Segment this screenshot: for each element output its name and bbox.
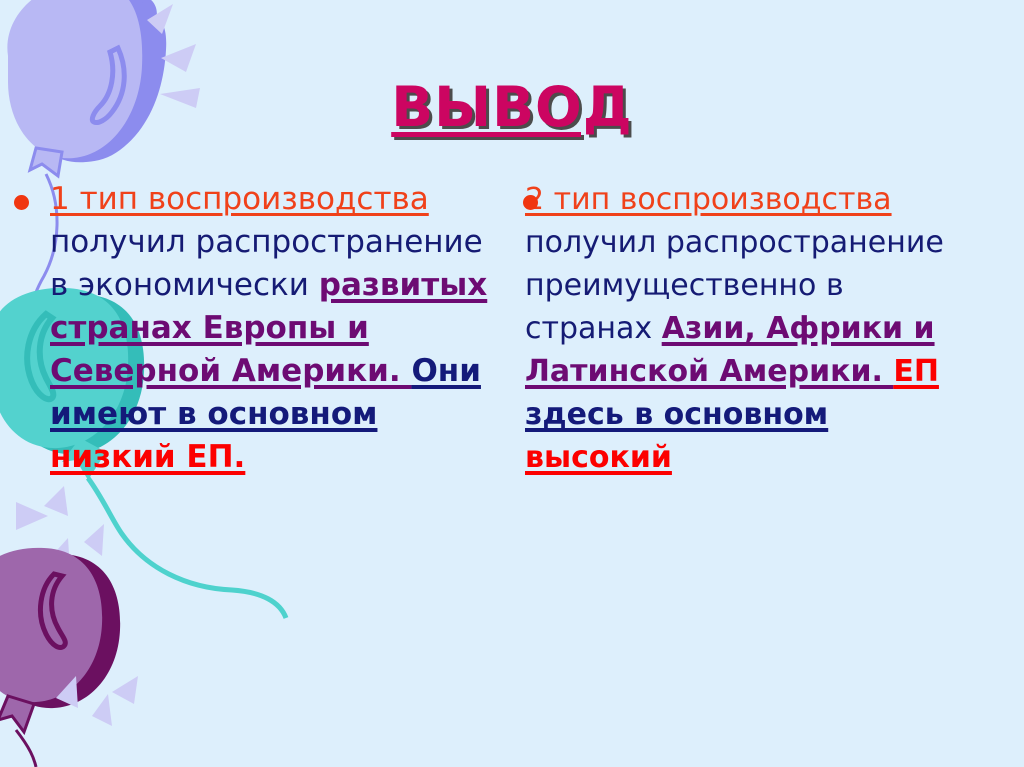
- bullet-column-left: 1 тип воспроизводства получил распростра…: [0, 178, 503, 738]
- title-container: ВЫВОД: [0, 78, 1024, 136]
- sparkle-icon: [147, 4, 173, 34]
- lavender-balloon-knot: [30, 148, 62, 176]
- presentation-slide: ВЫВОД 1 тип воспроизводства получил расп…: [0, 0, 1024, 767]
- text-span-red: ЕП: [893, 354, 939, 389]
- text-span-red: высокий: [525, 440, 672, 475]
- bullet-point-icon-2: [523, 195, 538, 210]
- paragraph-type-1: 1 тип воспроизводства получил распростра…: [50, 178, 489, 479]
- bullet-point-icon-1: [14, 195, 29, 210]
- text-span-orange: 1 тип воспроизводства: [50, 181, 429, 217]
- paragraph-type-2: 2 тип воспроизводства получил распростра…: [525, 178, 964, 479]
- sparkle-icon: [161, 44, 196, 72]
- text-span-orange: 2 тип воспроизводства: [525, 182, 892, 217]
- text-span-red: низкий ЕП.: [50, 439, 245, 475]
- text-span-navyb: здесь в основном: [525, 397, 828, 432]
- page-title: ВЫВОД: [391, 78, 633, 136]
- content-columns: 1 тип воспроизводства получил распростра…: [0, 178, 1024, 738]
- bullet-column-right: 2 тип воспроизводства получил распростра…: [503, 178, 1024, 738]
